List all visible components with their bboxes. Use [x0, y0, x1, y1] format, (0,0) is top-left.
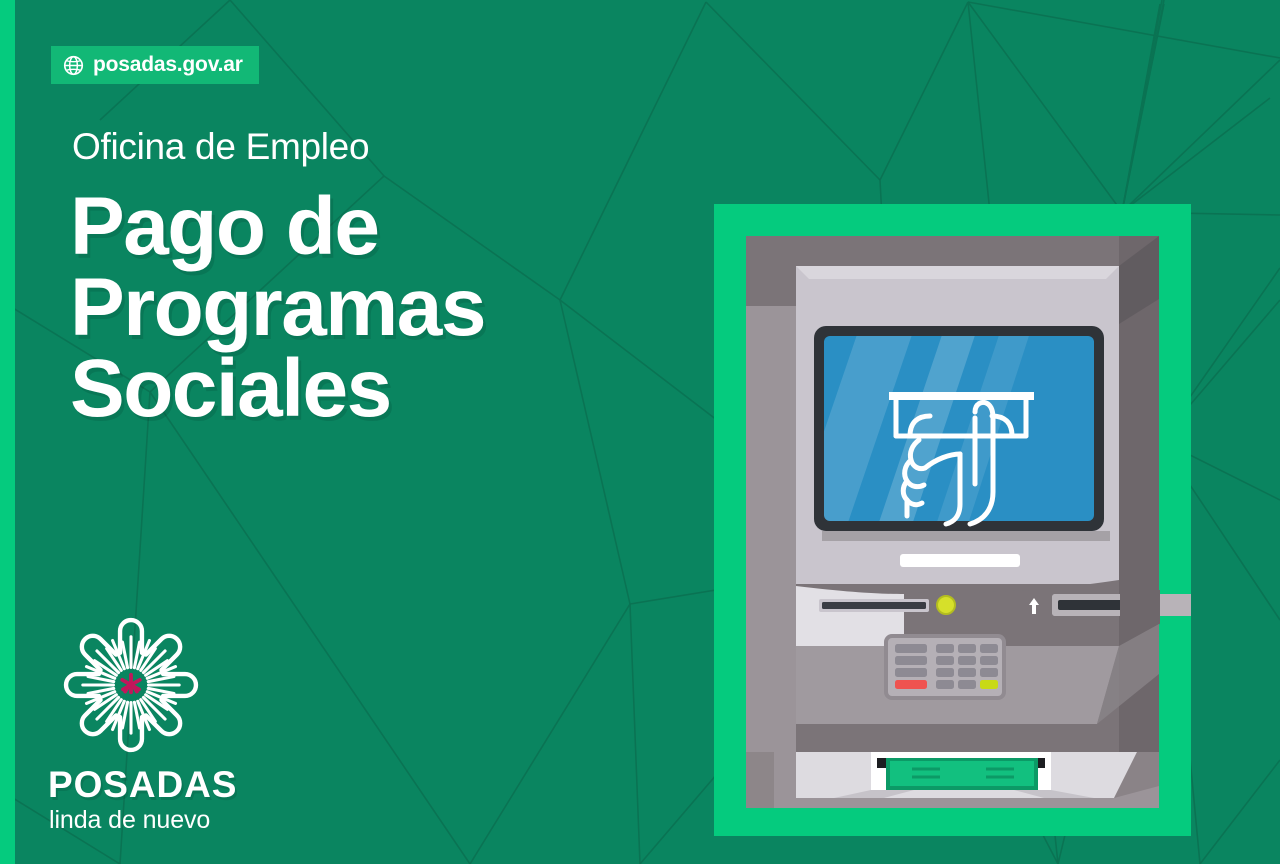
posadas-wordmark: POSADAS [48, 766, 274, 803]
keypad-enter-key [980, 680, 998, 689]
keypad-cancel-key [895, 680, 927, 689]
posadas-tagline: linda de nuevo [49, 808, 274, 833]
atm-screen-drop-shadow [822, 531, 1110, 541]
card-slot-led [937, 596, 955, 614]
posadas-flower-logo-icon [58, 612, 204, 758]
atm-head-bevel [796, 266, 1119, 279]
page-title: Pago de Programas Sociales [70, 186, 710, 430]
kicker-text: Oficina de Empleo [72, 126, 369, 168]
banner-canvas: posadas.gov.ar Oficina de Empleo Pago de… [0, 0, 1280, 864]
left-accent-strip [0, 0, 15, 864]
banknote [886, 758, 1038, 790]
posadas-logo-block: POSADAS linda de nuevo [44, 612, 274, 833]
title-line-2: Programas [70, 267, 710, 348]
title-line-3: Sociales [70, 348, 710, 429]
site-url-label: posadas.gov.ar [93, 54, 243, 75]
atm-body-left [746, 306, 796, 808]
keypad [886, 636, 1004, 698]
atm-body-right-shade [1119, 236, 1159, 808]
atm-function-strip [900, 554, 1020, 567]
title-line-1: Pago de [70, 186, 710, 267]
card-slot [819, 599, 929, 612]
atm-lower-band [796, 724, 1119, 752]
atm-illustration [714, 204, 1191, 836]
globe-icon [63, 55, 84, 76]
site-url-badge[interactable]: posadas.gov.ar [51, 46, 259, 84]
atm-foot-left [746, 752, 774, 808]
